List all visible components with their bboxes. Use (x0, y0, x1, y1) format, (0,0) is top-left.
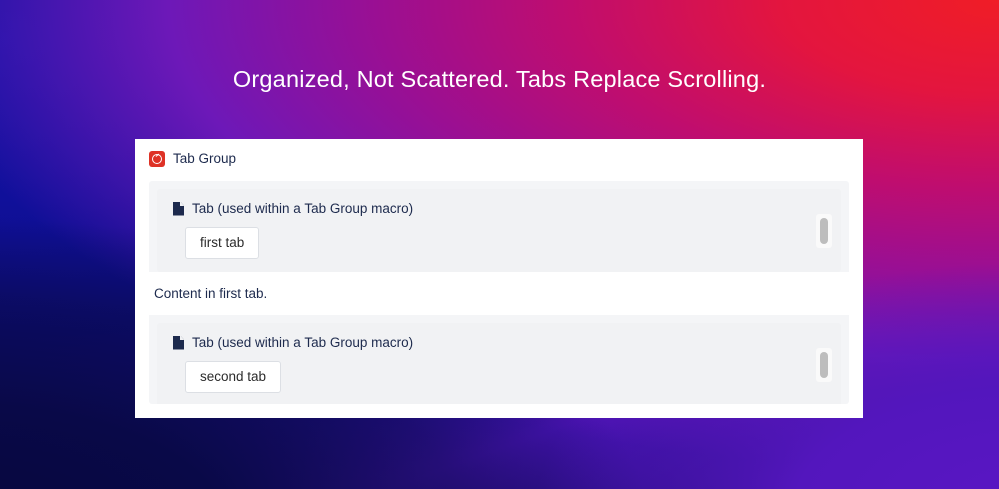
document-icon (173, 202, 184, 216)
tab-macro-header: Tab (used within a Tab Group macro) (157, 200, 841, 217)
tab-name-input[interactable]: first tab (185, 227, 259, 259)
tab-group-macro-icon (149, 151, 165, 167)
scrollbar-thumb[interactable] (820, 352, 828, 378)
tab-content-text: Content in first tab. (149, 272, 849, 315)
tab-macro-block[interactable]: Tab (used within a Tab Group macro) firs… (157, 189, 841, 272)
tab-macro-block[interactable]: Tab (used within a Tab Group macro) seco… (157, 323, 841, 404)
tab-group-card: Tab Group Tab (used within a Tab Group m… (135, 139, 863, 418)
tab-group-header: Tab Group (135, 139, 863, 165)
vertical-scrollbar[interactable] (816, 348, 832, 382)
tab-macro-label: Tab (used within a Tab Group macro) (192, 335, 413, 351)
tab-macro-header: Tab (used within a Tab Group macro) (157, 334, 841, 351)
document-icon (173, 336, 184, 350)
tab-name-input[interactable]: second tab (185, 361, 281, 393)
tab-group-title: Tab Group (173, 151, 236, 167)
vertical-scrollbar[interactable] (816, 214, 832, 248)
screenshot-stage: Organized, Not Scattered. Tabs Replace S… (0, 0, 999, 489)
page-headline: Organized, Not Scattered. Tabs Replace S… (0, 66, 999, 93)
scrollbar-thumb[interactable] (820, 218, 828, 244)
tab-group-panel: Tab (used within a Tab Group macro) firs… (149, 181, 849, 404)
tab-macro-label: Tab (used within a Tab Group macro) (192, 201, 413, 217)
